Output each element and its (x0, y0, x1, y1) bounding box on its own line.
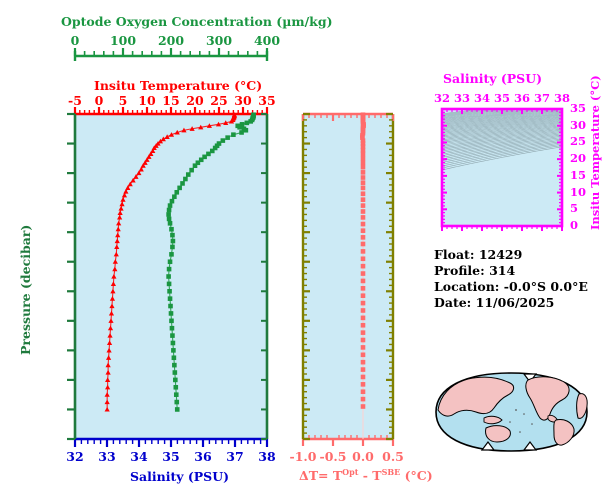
axis-tick-label: 35 (258, 93, 275, 108)
axis-tick-label: 33 (98, 449, 115, 464)
profile-label: Profile: (434, 263, 485, 278)
temperature-axis (75, 107, 267, 114)
delta-title-mid: - T (358, 468, 381, 483)
date-label: Date: (434, 295, 471, 310)
axis-tick-label: 37 (226, 449, 243, 464)
axis-tick-label: 100 (110, 33, 136, 48)
world-map-inset (424, 352, 599, 472)
axis-tick-label: 25 (210, 93, 227, 108)
axis-tick-label: 10 (138, 93, 155, 108)
salinity-axis (75, 439, 267, 447)
left-panel-background (75, 114, 267, 439)
profile-value: 314 (489, 263, 515, 278)
axis-tick-label: 0.0 (352, 449, 374, 464)
axis-tick-label: 30 (234, 93, 251, 108)
metadata-block: Float: 12429 Profile: 314 Location: -0.0… (434, 247, 588, 311)
temperature-axis-title: Insitu Temperature (°C) (94, 78, 262, 93)
axis-tick-label: 200 (158, 33, 184, 48)
delta-t-panel (290, 0, 430, 497)
map-globe (436, 373, 587, 451)
axis-tick-label: -0.5 (320, 449, 347, 464)
salinity-axis-title: Salinity (PSU) (130, 469, 229, 484)
island-dot (515, 409, 517, 411)
axis-tick-label: 300 (206, 33, 232, 48)
delta-t-axis-title: ΔT= TOpt - TSBE (°C) (299, 467, 433, 483)
metadata-date-row: Date: 11/06/2025 (434, 295, 588, 311)
island-dot (523, 413, 525, 415)
float-value: 12429 (479, 247, 523, 262)
oxygen-axis (75, 48, 267, 61)
delta-t-trace (360, 112, 366, 408)
axis-tick-label: 36 (194, 449, 211, 464)
axis-tick-label: 35 (162, 449, 179, 464)
axis-tick-label: 32 (66, 449, 83, 464)
axis-tick-label: 5 (119, 93, 128, 108)
date-value: 11/06/2025 (476, 295, 555, 310)
delta-panel-background (303, 114, 393, 439)
island-dot (509, 421, 511, 423)
axis-tick-label: 0 (95, 93, 104, 108)
delta-title-part1: ΔT= T (299, 468, 342, 483)
delta-title-sup-opt: Opt (342, 467, 358, 477)
float-label: Float: (434, 247, 474, 262)
axis-tick-label: 34 (130, 449, 147, 464)
island-dot (519, 431, 521, 433)
axis-tick-label: 0 (71, 33, 80, 48)
axis-tick-label: 15 (162, 93, 179, 108)
metadata-float-row: Float: 12429 (434, 247, 588, 263)
axis-tick-label: -5 (68, 93, 82, 108)
left-panel-svg (0, 0, 300, 497)
land-south-america (554, 419, 574, 445)
metadata-profile-row: Profile: 314 (434, 263, 588, 279)
axis-tick-label: 20 (186, 93, 203, 108)
axis-tick-label: 0.5 (382, 449, 404, 464)
island-dot (531, 423, 533, 425)
delta-title-sup-sbe: SBE (382, 467, 401, 477)
land-australia (486, 426, 511, 442)
axis-tick-label: -1.0 (290, 449, 317, 464)
location-value: -0.0°S 0.0°E (504, 279, 588, 294)
pressure-axis-title: Pressure (decibar) (18, 225, 33, 355)
axis-tick-label: 400 (254, 33, 280, 48)
ts-diagram-svg (420, 60, 609, 240)
axis-tick-label: 38 (258, 449, 275, 464)
metadata-location-row: Location: -0.0°S 0.0°E (434, 279, 588, 295)
location-label: Location: (434, 279, 499, 294)
